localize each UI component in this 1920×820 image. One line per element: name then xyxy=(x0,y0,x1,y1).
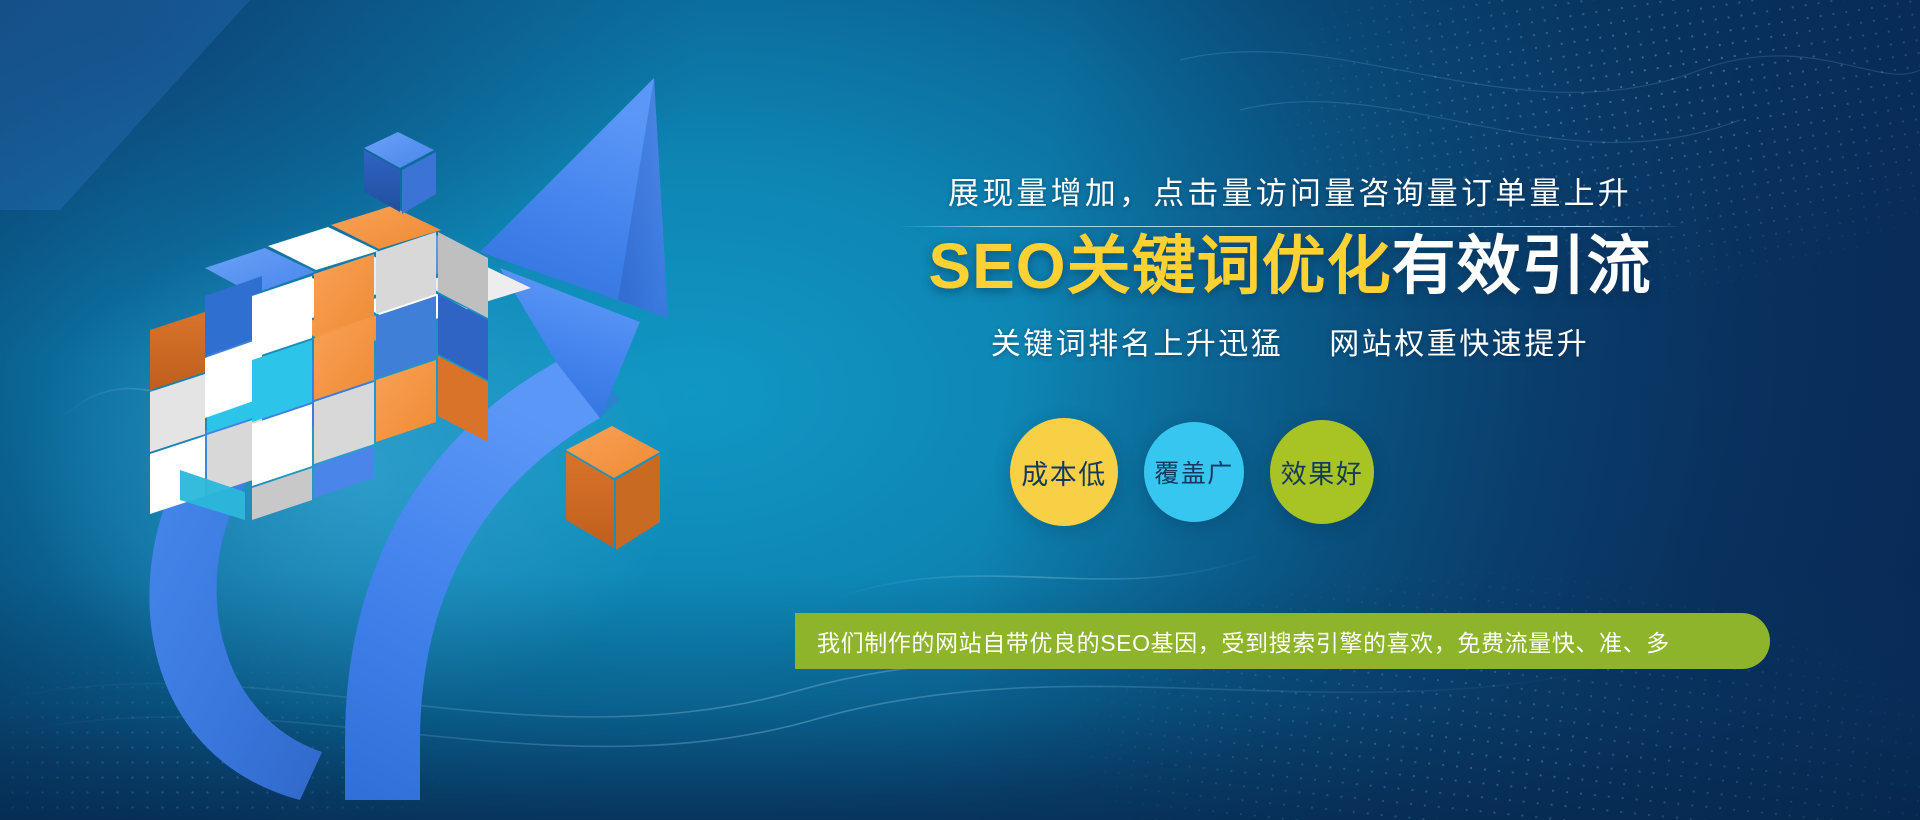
feature-circle-low-cost-label: 成本低 xyxy=(1021,453,1107,492)
floating-cube-blue xyxy=(364,132,436,214)
headline-main-highlight: SEO关键词优化 xyxy=(928,230,1391,302)
headline-main-line: SEO关键词优化有效引流 xyxy=(880,231,1700,303)
footer-highlight-bar-text: 我们制作的网站自带优良的SEO基因，受到搜索引擎的喜欢，免费流量快、准、多 xyxy=(817,624,1670,658)
feature-circle-wide-coverage[interactable]: 覆盖广 xyxy=(1144,422,1244,522)
footer-highlight-bar: 我们制作的网站自带优良的SEO基因，受到搜索引擎的喜欢，免费流量快、准、多 xyxy=(795,613,1770,669)
feature-circle-good-results[interactable]: 效果好 xyxy=(1270,420,1374,524)
decorative-graphics-layer xyxy=(0,0,1920,820)
headline-top-line: 展现量增加，点击量访问量咨询量订单量上升 xyxy=(880,168,1700,213)
feature-circle-group: 成本低 覆盖广 效果好 xyxy=(1010,418,1374,526)
headline-divider xyxy=(897,226,1683,227)
headline-main-rest: 有效引流 xyxy=(1392,230,1652,302)
headline-block: 展现量增加，点击量访问量咨询量订单量上升 SEO关键词优化有效引流 关键词排名上… xyxy=(880,168,1700,363)
feature-circle-good-results-label: 效果好 xyxy=(1281,454,1364,491)
feature-circle-low-cost[interactable]: 成本低 xyxy=(1010,418,1118,526)
seo-promo-banner: 展现量增加，点击量访问量咨询量订单量上升 SEO关键词优化有效引流 关键词排名上… xyxy=(0,0,1920,820)
feature-circle-wide-coverage-label: 覆盖广 xyxy=(1154,454,1234,490)
subline-left: 关键词排名上升迅猛 xyxy=(991,328,1284,361)
subline-right: 网站权重快速提升 xyxy=(1329,328,1589,361)
headline-sub-line: 关键词排名上升迅猛网站权重快速提升 xyxy=(880,319,1700,363)
